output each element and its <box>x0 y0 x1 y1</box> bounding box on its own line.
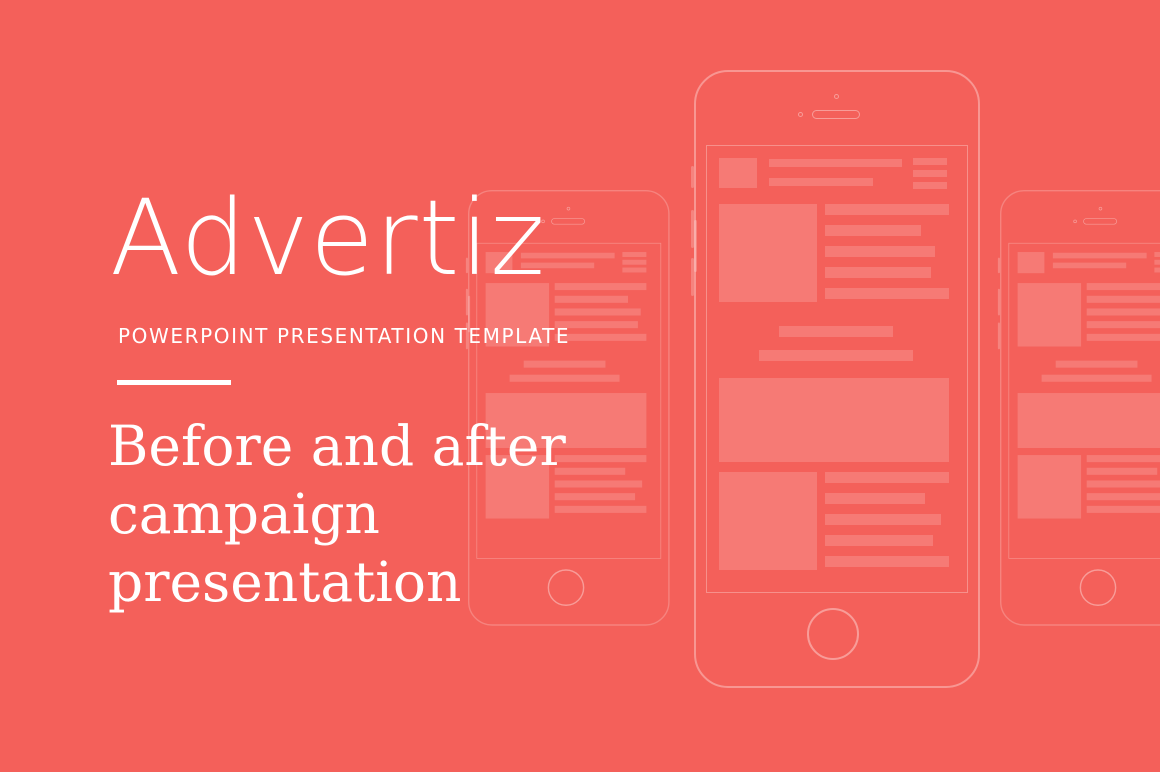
home-button <box>1080 569 1117 606</box>
wireframe-text-line <box>1087 334 1160 341</box>
page-title: Advertiz <box>110 186 546 290</box>
wireframe-text-line <box>1087 308 1160 315</box>
front-camera-icon <box>567 207 571 211</box>
wireframe-text-line <box>555 308 641 315</box>
volume-down-button <box>998 323 1000 350</box>
wireframe-header-line <box>769 178 873 186</box>
wireframe-centered-line <box>759 350 913 361</box>
slide-canvas: Advertiz POWERPOINT PRESENTATION TEMPLAT… <box>0 0 1160 772</box>
proximity-sensor-icon <box>798 112 803 117</box>
wireframe-logo-block <box>719 158 757 188</box>
earpiece-speaker-icon <box>1083 218 1117 224</box>
power-button <box>694 220 697 272</box>
wireframe-text-line <box>825 246 935 257</box>
wireframe-nav-item <box>913 158 947 165</box>
wireframe-nav-item <box>1154 260 1160 265</box>
wireframe-header-line <box>1053 263 1126 269</box>
volume-up-button <box>998 289 1000 316</box>
headline-line: Before and after <box>108 412 578 480</box>
wireframe-image-block <box>719 204 817 302</box>
wireframe-nav-item <box>913 182 947 189</box>
wireframe-text-line <box>825 267 931 278</box>
subtitle: POWERPOINT PRESENTATION TEMPLATE <box>118 324 570 348</box>
wireframe-centered-line <box>524 361 606 368</box>
wireframe-image-block <box>1018 283 1081 346</box>
wireframe-header-line <box>769 159 902 167</box>
wireframe-centered-line <box>510 375 620 382</box>
wireframe-text-line <box>555 283 647 290</box>
earpiece-speaker-icon <box>812 110 860 119</box>
front-camera-icon <box>1099 207 1103 211</box>
wireframe-wide-image-block <box>719 378 949 462</box>
wireframe-image-block <box>1018 455 1081 518</box>
wireframe-text-line <box>825 493 925 504</box>
wireframe-wide-image-block <box>1018 393 1160 448</box>
wireframe-text-line <box>1087 296 1160 303</box>
wireframe-text-line <box>825 472 949 483</box>
mute-switch-icon <box>998 258 1000 274</box>
wireframe-text-line <box>1087 283 1160 290</box>
wireframe-text-line <box>825 204 949 215</box>
wireframe-text-line <box>1087 468 1158 475</box>
wireframe-nav-item <box>622 268 646 273</box>
wireframe-text-line <box>825 535 933 546</box>
wireframe-centered-line <box>1056 361 1138 368</box>
wireframe-nav-item <box>913 170 947 177</box>
wireframe-text-line <box>1087 493 1160 500</box>
wireframe-nav-item <box>622 252 646 257</box>
wireframe-image-block <box>719 472 817 570</box>
wireframe-nav-item <box>622 260 646 265</box>
phone-screen-right <box>1008 243 1160 559</box>
wireframe-text-line <box>825 556 949 567</box>
wireframe-centered-line <box>779 326 893 337</box>
wireframe-text-line <box>555 296 628 303</box>
headline-line: presentation <box>108 548 578 616</box>
wireframe-nav-item <box>1154 268 1160 273</box>
home-button <box>807 608 859 660</box>
wireframe-text-line <box>825 225 921 236</box>
phone-mockup-group <box>0 0 1160 772</box>
wireframe-header-line <box>1053 253 1147 259</box>
wireframe-text-line <box>1087 506 1160 513</box>
divider <box>117 380 231 385</box>
front-camera-icon <box>834 94 839 99</box>
earpiece-speaker-icon <box>551 218 585 224</box>
headline: Before and after campaign presentation <box>108 412 578 616</box>
wireframe-text-line <box>1087 480 1160 487</box>
wireframe-centered-line <box>1042 375 1152 382</box>
wireframe-text-line <box>1087 321 1160 328</box>
wireframe-text-line <box>825 514 941 525</box>
wireframe-text-line <box>1087 455 1160 462</box>
proximity-sensor-icon <box>1073 220 1077 224</box>
mute-switch-icon <box>691 166 694 188</box>
phone-screen-center <box>706 145 968 593</box>
wireframe-nav-item <box>1154 252 1160 257</box>
wireframe-text-line <box>825 288 949 299</box>
wireframe-logo-block <box>1018 252 1045 273</box>
headline-line: campaign <box>108 480 578 548</box>
